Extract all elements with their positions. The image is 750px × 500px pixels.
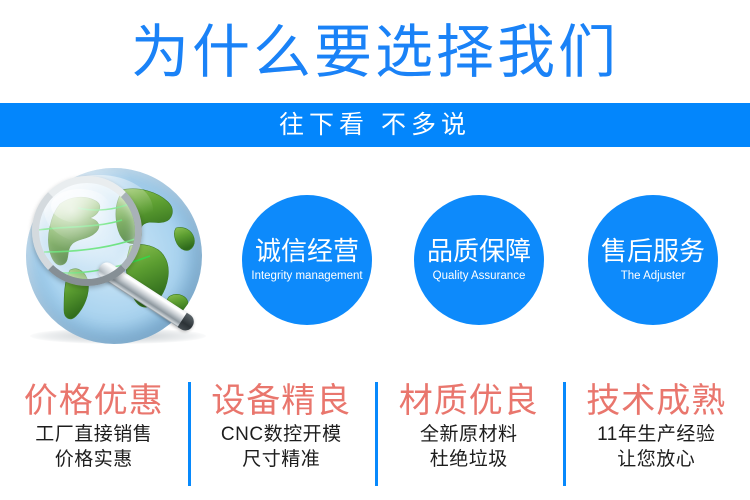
feature-line-2: 杜绝垃圾	[375, 447, 563, 472]
globe-magnifier-illustration	[14, 160, 226, 360]
feature-line-1: 全新原材料	[375, 422, 563, 447]
magnifier-glass-highlight	[51, 189, 109, 223]
bubble-title: 品质保障	[427, 236, 531, 266]
speech-bubble-quality: 品质保障 Quality Assurance	[414, 195, 544, 325]
feature-title: 价格优惠	[0, 380, 188, 422]
bubble-subtitle: Quality Assurance	[433, 268, 526, 285]
bubble-subtitle: The Adjuster	[621, 268, 686, 285]
feature-line-2: 尺寸精准	[188, 447, 376, 472]
feature-title: 设备精良	[188, 380, 376, 422]
bubble-subtitle: Integrity management	[251, 268, 362, 285]
bubble-title: 诚信经营	[255, 236, 359, 266]
feature-title: 材质优良	[375, 380, 563, 422]
subtitle-bar: 往下看 不多说	[0, 103, 750, 147]
bubble-title: 售后服务	[601, 236, 705, 266]
feature-price: 价格优惠 工厂直接销售 价格实惠	[0, 378, 188, 493]
speech-bubble-after-sales: 售后服务 The Adjuster	[588, 195, 718, 325]
feature-line-2: 价格实惠	[0, 447, 188, 472]
page-title: 为什么要选择我们	[0, 22, 750, 84]
showcase-section: 诚信经营 Integrity management 品质保障 Quality A…	[0, 147, 750, 375]
speech-bubble-integrity: 诚信经营 Integrity management	[242, 195, 372, 325]
bubble-content: 售后服务 The Adjuster	[588, 195, 718, 325]
promo-banner: 为什么要选择我们 往下看 不多说	[0, 0, 750, 500]
feature-row: 价格优惠 工厂直接销售 价格实惠 设备精良 CNC数控开模 尺寸精准 材质优良 …	[0, 378, 750, 493]
magnifier-icon	[32, 176, 142, 286]
feature-line-1: CNC数控开模	[188, 422, 376, 447]
subtitle-text: 往下看 不多说	[0, 103, 750, 147]
feature-equipment: 设备精良 CNC数控开模 尺寸精准	[188, 378, 376, 493]
bubble-content: 品质保障 Quality Assurance	[414, 195, 544, 325]
feature-material: 材质优良 全新原材料 杜绝垃圾	[375, 378, 563, 493]
feature-technology: 技术成熟 11年生产经验 让您放心	[563, 378, 750, 493]
bubble-content: 诚信经营 Integrity management	[242, 195, 372, 325]
feature-title: 技术成熟	[563, 380, 750, 422]
feature-line-1: 工厂直接销售	[0, 422, 188, 447]
feature-line-1: 11年生产经验	[563, 422, 750, 447]
feature-line-2: 让您放心	[563, 447, 750, 472]
